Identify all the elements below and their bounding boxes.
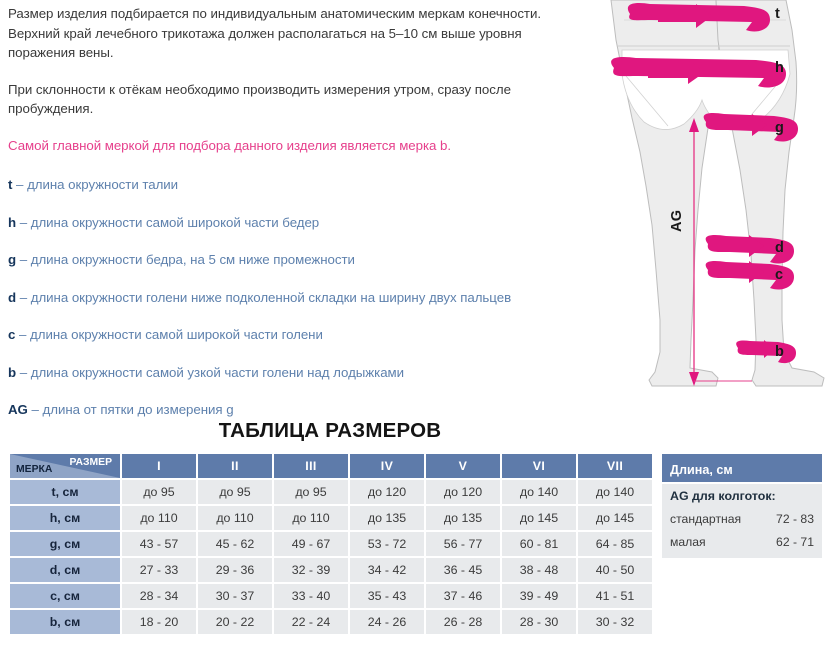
cell-b-4: 24 - 26 (349, 609, 425, 635)
table-row: g, см 43 - 57 45 - 62 49 - 67 53 - 72 56… (9, 531, 653, 557)
size-column-header-2: II (197, 453, 273, 479)
row-label-b: b, см (9, 609, 121, 635)
legend-dash: – (19, 327, 26, 342)
size-table: МЕРКА РАЗМЕР I II III IV V VI VII t, см … (8, 452, 654, 636)
table-header-row: МЕРКА РАЗМЕР I II III IV V VI VII (9, 453, 653, 479)
cell-h-5: до 135 (425, 505, 501, 531)
cell-t-5: до 120 (425, 479, 501, 505)
cell-h-7: до 145 (577, 505, 653, 531)
cell-t-1: до 95 (121, 479, 197, 505)
diagram-label-d: d (775, 240, 784, 256)
cell-c-3: 33 - 40 (273, 583, 349, 609)
table-corner-cell: МЕРКА РАЗМЕР (9, 453, 121, 479)
ag-axis-label: AG (669, 210, 685, 232)
legend-item-d: d – длина окружности голени ниже подколе… (8, 288, 556, 307)
size-column-header-3: III (273, 453, 349, 479)
length-panel: Длина, см AG для колготок: стандартная 7… (660, 452, 824, 560)
legend-item-g: g – длина окружности бедра, на 5 см ниже… (8, 250, 556, 269)
legend-text-t: длина окружности талии (27, 177, 178, 192)
cell-c-6: 39 - 49 (501, 583, 577, 609)
corner-row-header: МЕРКА (16, 464, 52, 475)
row-label-h: h, см (9, 505, 121, 531)
length-row-label-small: малая (670, 535, 706, 549)
info-section: Размер изделия подбирается по индивидуал… (0, 0, 832, 410)
cell-t-3: до 95 (273, 479, 349, 505)
size-column-header-4: IV (349, 453, 425, 479)
table-row: b, см 18 - 20 20 - 22 22 - 24 24 - 26 26… (9, 609, 653, 635)
cell-c-7: 41 - 51 (577, 583, 653, 609)
cell-g-6: 60 - 81 (501, 531, 577, 557)
legend-text-d: длина окружности голени ниже подколенной… (31, 290, 511, 305)
length-row-small: малая 62 - 71 (670, 535, 814, 549)
legend-key-t: t (8, 177, 12, 192)
size-column-header-6: VI (501, 453, 577, 479)
table-row: c, см 28 - 34 30 - 37 33 - 40 35 - 43 37… (9, 583, 653, 609)
cell-d-4: 34 - 42 (349, 557, 425, 583)
cell-d-2: 29 - 36 (197, 557, 273, 583)
size-column-header-7: VII (577, 453, 653, 479)
table-row: t, см до 95 до 95 до 95 до 120 до 120 до… (9, 479, 653, 505)
corner-col-header: РАЗМЕР (69, 457, 112, 468)
cell-t-6: до 140 (501, 479, 577, 505)
legend-text-g: длина окружности бедра, на 5 см ниже про… (31, 252, 355, 267)
cell-g-5: 56 - 77 (425, 531, 501, 557)
length-panel-title: AG для колготок: (670, 489, 814, 503)
measurement-legend-list: t – длина окружности талии h – длина окр… (8, 175, 556, 419)
legend-text-c: длина окружности самой широкой части гол… (30, 327, 323, 342)
row-label-g: g, см (9, 531, 121, 557)
cell-h-6: до 145 (501, 505, 577, 531)
legend-item-c: c – длина окружности самой широкой части… (8, 325, 556, 344)
cell-c-1: 28 - 34 (121, 583, 197, 609)
measurement-instructions: Размер изделия подбирается по индивидуал… (8, 4, 556, 438)
key-measure-highlight: Самой главной меркой для подбора данного… (8, 136, 556, 156)
legend-key-ag: AG (8, 402, 28, 417)
diagram-label-b: b (775, 344, 784, 360)
legend-text-b: длина окружности самой узкой части голен… (31, 365, 404, 380)
cell-d-5: 36 - 45 (425, 557, 501, 583)
cell-b-6: 28 - 30 (501, 609, 577, 635)
cell-b-3: 22 - 24 (273, 609, 349, 635)
row-label-c: c, см (9, 583, 121, 609)
legend-item-t: t – длина окружности талии (8, 175, 556, 194)
length-panel-body: AG для колготок: стандартная 72 - 83 мал… (660, 484, 824, 560)
legend-key-d: d (8, 290, 16, 305)
cell-d-7: 40 - 50 (577, 557, 653, 583)
legend-dash: – (32, 402, 39, 417)
cell-c-4: 35 - 43 (349, 583, 425, 609)
size-column-header-5: V (425, 453, 501, 479)
cell-g-3: 49 - 67 (273, 531, 349, 557)
length-row-value-small: 62 - 71 (776, 535, 814, 549)
cell-h-3: до 110 (273, 505, 349, 531)
legend-text-h: длина окружности самой широкой части бед… (31, 215, 319, 230)
size-column-header-1: I (121, 453, 197, 479)
legend-key-h: h (8, 215, 16, 230)
legend-dash: – (20, 215, 27, 230)
legend-dash: – (16, 177, 23, 192)
legend-text-ag: длина от пятки до измерения g (43, 402, 234, 417)
table-row: d, см 27 - 33 29 - 36 32 - 39 34 - 42 36… (9, 557, 653, 583)
cell-c-5: 37 - 46 (425, 583, 501, 609)
intro-paragraph-1: Размер изделия подбирается по индивидуал… (8, 4, 556, 63)
cell-t-7: до 140 (577, 479, 653, 505)
intro-paragraph-2: При склонности к отёкам необходимо произ… (8, 80, 556, 119)
cell-g-7: 64 - 85 (577, 531, 653, 557)
table-row: h, см до 110 до 110 до 110 до 135 до 135… (9, 505, 653, 531)
legend-key-c: c (8, 327, 15, 342)
cell-g-1: 43 - 57 (121, 531, 197, 557)
size-table-title: ТАБЛИЦА РАЗМЕРОВ (0, 419, 660, 443)
cell-h-4: до 135 (349, 505, 425, 531)
cell-b-2: 20 - 22 (197, 609, 273, 635)
cell-b-5: 26 - 28 (425, 609, 501, 635)
cell-d-1: 27 - 33 (121, 557, 197, 583)
legend-dash: – (20, 252, 27, 267)
female-figure-illustration (556, 0, 832, 410)
cell-g-4: 53 - 72 (349, 531, 425, 557)
length-row-label-standard: стандартная (670, 512, 741, 526)
cell-b-1: 18 - 20 (121, 609, 197, 635)
cell-h-1: до 110 (121, 505, 197, 531)
legend-item-h: h – длина окружности самой широкой части… (8, 213, 556, 232)
cell-g-2: 45 - 62 (197, 531, 273, 557)
length-row-standard: стандартная 72 - 83 (670, 512, 814, 526)
length-panel-header: Длина, см (660, 452, 824, 484)
diagram-label-t: t (775, 6, 780, 22)
body-measurement-diagram: AG t h g d c b (556, 0, 832, 410)
diagram-label-c: c (775, 267, 783, 283)
row-label-d: d, см (9, 557, 121, 583)
legend-key-b: b (8, 365, 16, 380)
legend-dash: – (20, 290, 27, 305)
cell-d-6: 38 - 48 (501, 557, 577, 583)
legend-dash: – (20, 365, 27, 380)
legend-item-ag: AG – длина от пятки до измерения g (8, 400, 556, 419)
cell-c-2: 30 - 37 (197, 583, 273, 609)
cell-b-7: 30 - 32 (577, 609, 653, 635)
cell-t-4: до 120 (349, 479, 425, 505)
diagram-label-g: g (775, 120, 784, 136)
cell-t-2: до 95 (197, 479, 273, 505)
legend-key-g: g (8, 252, 16, 267)
diagram-label-h: h (775, 60, 784, 76)
length-row-value-standard: 72 - 83 (776, 512, 814, 526)
legend-item-b: b – длина окружности самой узкой части г… (8, 363, 556, 382)
cell-h-2: до 110 (197, 505, 273, 531)
row-label-t: t, см (9, 479, 121, 505)
cell-d-3: 32 - 39 (273, 557, 349, 583)
